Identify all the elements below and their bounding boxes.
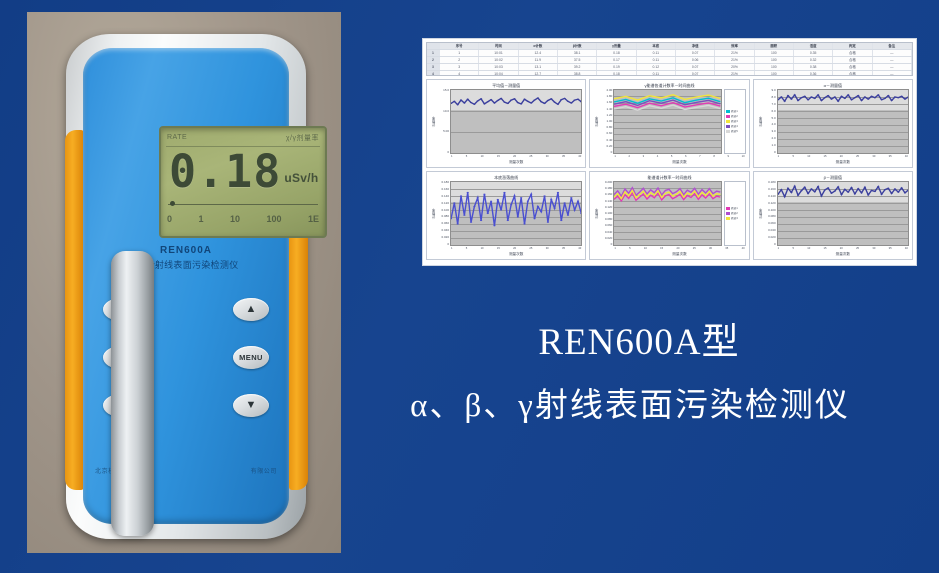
table-cell: 1 bbox=[440, 50, 479, 56]
device-handle bbox=[111, 251, 154, 536]
chart-card[interactable]: 能谱道计数率－时间曲线计数率0.2000.1800.1600.1400.1200… bbox=[589, 171, 749, 260]
chart-plot-area: 计数率0.1800.1600.1400.1200.1000.0800.0600.… bbox=[430, 181, 582, 246]
chart-y-ticks: 2.001.801.601.401.201.000.800.600.400.20… bbox=[600, 89, 613, 154]
chart-y-tick: 15.0 bbox=[437, 89, 449, 92]
chart-y-tick: 0.120 bbox=[600, 206, 612, 209]
chart-gridline bbox=[451, 153, 581, 154]
chart-y-tick: 0.180 bbox=[437, 181, 449, 184]
chart-y-tick: 0.080 bbox=[437, 215, 449, 218]
legend-label: 通道5 bbox=[731, 130, 738, 133]
table-cell: 39.2 bbox=[558, 64, 597, 70]
table-cell: 0.38 bbox=[794, 64, 833, 70]
chart-plot-area: 计数率15.010.05.000 bbox=[430, 89, 582, 154]
chart-y-tick: 6.0 bbox=[764, 110, 776, 113]
table-cell: 21% bbox=[715, 71, 754, 76]
chart-y-tick: 0.040 bbox=[437, 229, 449, 232]
chart-x-axis-label: 测量次数 bbox=[777, 251, 909, 257]
chart-y-tick: 1.40 bbox=[600, 108, 612, 111]
chart-y-tick: 0.140 bbox=[600, 200, 612, 203]
lcd-reading: 0.18 uSv/h bbox=[169, 150, 319, 194]
chart-y-tick: 9.0 bbox=[764, 89, 776, 92]
chart-y-tick: 1.80 bbox=[600, 95, 612, 98]
arrow-down-icon: ▼ bbox=[246, 400, 257, 411]
table-cell: 100 bbox=[755, 57, 794, 63]
chart-y-ticks: 0.1800.1600.1400.1200.1000.0800.0600.040… bbox=[437, 181, 450, 246]
chart-y-tick: 0.040 bbox=[764, 229, 776, 232]
table-column-header: α计数 bbox=[519, 43, 558, 49]
chart-x-axis-label: 测量次数 bbox=[450, 251, 582, 257]
legend-swatch bbox=[726, 130, 730, 133]
lcd-bargraph-marker bbox=[170, 201, 175, 206]
menu-key[interactable]: MENU bbox=[233, 346, 269, 369]
legend-label: 通道1 bbox=[731, 110, 738, 113]
table-column-header: γ剂量 bbox=[597, 43, 636, 49]
chart-y-tick: 0 bbox=[764, 151, 776, 154]
table-cell: 0.35 bbox=[794, 50, 833, 56]
table-row[interactable]: 3310:0313.139.20.190.120.0720%1000.38合格— bbox=[427, 64, 912, 71]
lcd-scale-tick: 0 bbox=[167, 214, 172, 224]
chart-y-tick: 2.0 bbox=[764, 137, 776, 140]
chart-plot bbox=[613, 89, 721, 154]
chart-x-axis-label: 测量次数 bbox=[450, 159, 582, 165]
table-cell: 10:02 bbox=[479, 57, 518, 63]
chart-plot bbox=[450, 181, 582, 246]
table-column-header: 面积 bbox=[755, 43, 794, 49]
chart-plot-area: 计数率9.08.07.06.05.04.03.02.01.00 bbox=[757, 89, 909, 154]
device-grip-left bbox=[65, 130, 84, 490]
lcd-scale-tick: 10 bbox=[230, 214, 240, 224]
chart-plot-area: 计数率0.1800.1600.1400.1200.1000.0800.0600.… bbox=[757, 181, 909, 246]
chart-y-tick: 0.040 bbox=[600, 231, 612, 234]
table-column-header: 序号 bbox=[440, 43, 479, 49]
lcd-scale-tick: 100 bbox=[266, 214, 281, 224]
page-title: REN600A型 bbox=[348, 318, 930, 368]
device-footer-right: 有限公司 bbox=[251, 466, 277, 475]
legend-swatch bbox=[726, 207, 730, 210]
table-cell: 0.32 bbox=[794, 57, 833, 63]
table-cell: 12.4 bbox=[519, 50, 558, 56]
chart-plot bbox=[450, 89, 582, 154]
table-column-header: 判定 bbox=[833, 43, 872, 49]
chart-y-ticks: 9.08.07.06.05.04.03.02.01.00 bbox=[764, 89, 777, 154]
chart-x-axis-label: 测量次数 bbox=[613, 159, 745, 165]
table-cell: 0.11 bbox=[637, 50, 676, 56]
up-key[interactable]: ▲ bbox=[233, 298, 269, 321]
chart-y-axis-label: 计数率 bbox=[430, 181, 437, 246]
chart-legend-item: 通道3 bbox=[726, 216, 744, 221]
chart-y-tick: 0.060 bbox=[600, 224, 612, 227]
chart-y-tick: 10.0 bbox=[437, 110, 449, 113]
chart-y-tick: 7.0 bbox=[764, 103, 776, 106]
chart-y-ticks: 0.2000.1800.1600.1400.1200.1000.0800.060… bbox=[600, 181, 613, 246]
chart-y-tick: 4.0 bbox=[764, 123, 776, 126]
table-cell: 38.1 bbox=[558, 50, 597, 56]
chart-y-tick: 2.00 bbox=[600, 89, 612, 92]
chart-card[interactable]: α－测量值计数率9.08.07.06.05.04.03.02.01.001510… bbox=[753, 79, 913, 168]
table-cell: 0.11 bbox=[637, 71, 676, 76]
table-row-header: 2 bbox=[427, 57, 440, 63]
software-report-panel: 序号时间α计数β计数γ剂量本底净值效率面积活度判定备注1110:0112.438… bbox=[422, 38, 917, 266]
table-cell: 38.8 bbox=[558, 71, 597, 76]
table-column-header: 时间 bbox=[479, 43, 518, 49]
chart-gridline bbox=[614, 153, 720, 154]
chart-x-axis-label: 测量次数 bbox=[777, 159, 909, 165]
chart-y-tick: 3.0 bbox=[764, 130, 776, 133]
table-cell: 0.07 bbox=[676, 50, 715, 56]
table-cell: 0.06 bbox=[676, 57, 715, 63]
table-cell: 37.5 bbox=[558, 57, 597, 63]
chart-y-ticks: 15.010.05.000 bbox=[437, 89, 450, 154]
table-cell: 100 bbox=[755, 64, 794, 70]
chart-plot bbox=[613, 181, 721, 246]
chart-y-tick: 0 bbox=[437, 243, 449, 246]
lcd-status-right: χ/γ剂量率 bbox=[286, 133, 319, 143]
table-column-header: 净值 bbox=[676, 43, 715, 49]
chart-y-tick: 0 bbox=[600, 151, 612, 154]
chart-card[interactable]: 本底涨落曲线计数率0.1800.1600.1400.1200.1000.0800… bbox=[426, 171, 586, 260]
slide-root: RATE χ/γ剂量率 0.18 uSv/h 0 1 10 100 1E bbox=[0, 0, 939, 573]
table-cell: 4 bbox=[440, 71, 479, 76]
table-cell: 10:04 bbox=[479, 71, 518, 76]
table-header-row: 序号时间α计数β计数γ剂量本底净值效率面积活度判定备注 bbox=[427, 43, 912, 50]
table-row-header: 3 bbox=[427, 64, 440, 70]
chart-legend: 通道1通道2通道3通道4通道5 bbox=[724, 89, 746, 154]
table-column-header: 备注 bbox=[873, 43, 912, 49]
table-cell: 合格 bbox=[833, 64, 872, 70]
chart-plot-area: 计数率2.001.801.601.401.201.000.800.600.400… bbox=[593, 89, 745, 154]
chart-y-tick: 0.180 bbox=[600, 187, 612, 190]
table-corner-cell bbox=[427, 43, 440, 49]
legend-label: 通道3 bbox=[731, 120, 738, 123]
chart-y-tick: 1.60 bbox=[600, 101, 612, 104]
chart-plot bbox=[777, 89, 909, 154]
table-cell: 20% bbox=[715, 64, 754, 70]
table-cell: 13.1 bbox=[519, 64, 558, 70]
table-cell: 21% bbox=[715, 50, 754, 56]
chart-y-axis-label: 计数率 bbox=[430, 89, 437, 154]
menu-key-label: MENU bbox=[239, 353, 263, 362]
chart-y-tick: 5.0 bbox=[764, 117, 776, 120]
table-column-header: 活度 bbox=[794, 43, 833, 49]
table-column-header: β计数 bbox=[558, 43, 597, 49]
chart-plot-area: 计数率0.2000.1800.1600.1400.1200.1000.0800.… bbox=[593, 181, 745, 246]
chart-card[interactable]: β－测量值计数率0.1800.1600.1400.1200.1000.0800.… bbox=[753, 171, 913, 260]
chart-y-tick: 0.020 bbox=[600, 237, 612, 240]
table-cell: 合格 bbox=[833, 57, 872, 63]
data-table: 序号时间α计数β计数γ剂量本底净值效率面积活度判定备注1110:0112.438… bbox=[426, 42, 913, 76]
chart-y-tick: 0.160 bbox=[764, 188, 776, 191]
chart-x-axis-label: 测量次数 bbox=[613, 251, 745, 257]
chart-y-tick: 1.20 bbox=[600, 114, 612, 117]
legend-label: 通道2 bbox=[731, 115, 738, 118]
chart-y-axis-label: 计数率 bbox=[757, 181, 764, 246]
table-column-header: 本底 bbox=[637, 43, 676, 49]
chart-legend-item: 通道5 bbox=[726, 129, 744, 134]
table-cell: 0.18 bbox=[597, 71, 636, 76]
legend-swatch bbox=[726, 125, 730, 128]
chart-plot bbox=[777, 181, 909, 246]
chart-gridline bbox=[451, 245, 581, 246]
table-cell: 0.11 bbox=[637, 57, 676, 63]
table-row[interactable]: 4410:0412.738.80.180.110.0721%1000.36合格— bbox=[427, 71, 912, 76]
lcd-status-left: RATE bbox=[167, 134, 187, 141]
chart-y-tick: 0.140 bbox=[437, 195, 449, 198]
legend-swatch bbox=[726, 110, 730, 113]
table-cell: 21% bbox=[715, 57, 754, 63]
chart-y-tick: 0.160 bbox=[600, 193, 612, 196]
table-cell: 0.18 bbox=[597, 50, 636, 56]
chart-card[interactable]: 平均值－测量值计数率15.010.05.0001510152025303540测… bbox=[426, 79, 586, 168]
legend-swatch bbox=[726, 212, 730, 215]
legend-label: 通道2 bbox=[731, 212, 738, 215]
lcd-scale-tick: 1E bbox=[308, 214, 319, 224]
chart-legend: 通道1通道2通道3 bbox=[724, 181, 746, 246]
legend-label: 通道1 bbox=[731, 207, 738, 210]
chart-y-tick: 1.00 bbox=[600, 120, 612, 123]
chart-y-tick: 0.020 bbox=[764, 236, 776, 239]
table-row[interactable]: 1110:0112.438.10.180.110.0721%1000.35合格— bbox=[427, 50, 912, 57]
arrow-up-icon: ▲ bbox=[246, 304, 257, 315]
table-row[interactable]: 2210:0211.937.50.170.110.0621%1000.32合格— bbox=[427, 57, 912, 64]
table-cell: 2 bbox=[440, 57, 479, 63]
lcd-scale: 0 1 10 100 1E bbox=[167, 214, 319, 224]
chart-y-tick: 0.180 bbox=[764, 181, 776, 184]
legend-swatch bbox=[726, 115, 730, 118]
lcd-status-bar: RATE χ/γ剂量率 bbox=[167, 131, 319, 144]
chart-y-tick: 0.120 bbox=[764, 202, 776, 205]
chart-y-tick: 8.0 bbox=[764, 96, 776, 99]
chart-y-tick: 0.120 bbox=[437, 202, 449, 205]
table-cell: 0.36 bbox=[794, 71, 833, 76]
table-cell: — bbox=[873, 64, 912, 70]
chart-gridline bbox=[778, 153, 908, 154]
table-cell: 合格 bbox=[833, 50, 872, 56]
table-cell: 11.9 bbox=[519, 57, 558, 63]
chart-y-axis-label: 计数率 bbox=[593, 89, 600, 154]
chart-y-tick: 0.100 bbox=[600, 212, 612, 215]
table-row-header: 1 bbox=[427, 50, 440, 56]
table-column-header: 效率 bbox=[715, 43, 754, 49]
table-cell: 12.7 bbox=[519, 71, 558, 76]
page-subtitle: α、β、γ射线表面污染检测仪 bbox=[330, 382, 930, 430]
lcd-bargraph bbox=[168, 204, 318, 208]
title-block: REN600A型 α、β、γ射线表面污染检测仪 bbox=[330, 318, 930, 488]
chart-gridline bbox=[614, 245, 720, 246]
lcd-unit: uSv/h bbox=[284, 171, 318, 185]
chart-y-axis-label: 计数率 bbox=[757, 89, 764, 154]
chart-y-tick: 5.00 bbox=[437, 130, 449, 133]
table-cell: — bbox=[873, 50, 912, 56]
table-cell: 0.19 bbox=[597, 64, 636, 70]
product-photo: RATE χ/γ剂量率 0.18 uSv/h 0 1 10 100 1E bbox=[27, 12, 341, 553]
table-cell: 0.07 bbox=[676, 64, 715, 70]
table-cell: — bbox=[873, 57, 912, 63]
lcd-scale-tick: 1 bbox=[198, 214, 203, 224]
chart-y-tick: 1.0 bbox=[764, 144, 776, 147]
charts-grid: 平均值－测量值计数率15.010.05.0001510152025303540测… bbox=[426, 79, 913, 260]
chart-y-tick: 0.40 bbox=[600, 139, 612, 142]
chart-y-tick: 0 bbox=[764, 243, 776, 246]
chart-y-ticks: 0.1800.1600.1400.1200.1000.0800.0600.040… bbox=[764, 181, 777, 246]
chart-y-tick: 0.060 bbox=[764, 222, 776, 225]
chart-y-tick: 0.060 bbox=[437, 222, 449, 225]
chart-y-tick: 0.20 bbox=[600, 145, 612, 148]
chart-y-tick: 0.080 bbox=[764, 215, 776, 218]
table-cell: 3 bbox=[440, 64, 479, 70]
table-cell: 100 bbox=[755, 50, 794, 56]
chart-y-tick: 0.160 bbox=[437, 188, 449, 191]
chart-card[interactable]: γ能谱各道计数率－时间曲线计数率2.001.801.601.401.201.00… bbox=[589, 79, 749, 168]
table-row-header: 4 bbox=[427, 71, 440, 76]
chart-y-tick: 0 bbox=[600, 243, 612, 246]
chart-y-tick: 0.080 bbox=[600, 218, 612, 221]
lcd-screen: RATE χ/γ剂量率 0.18 uSv/h 0 1 10 100 1E bbox=[159, 126, 327, 238]
chart-y-tick: 0.60 bbox=[600, 132, 612, 135]
legend-swatch bbox=[726, 120, 730, 123]
table-cell: 0.07 bbox=[676, 71, 715, 76]
lcd-value: 0.18 bbox=[169, 150, 281, 194]
chart-y-tick: 0.100 bbox=[764, 209, 776, 212]
legend-swatch bbox=[726, 217, 730, 220]
chart-y-tick: 0.100 bbox=[437, 209, 449, 212]
down-key[interactable]: ▼ bbox=[233, 394, 269, 417]
chart-gridline bbox=[778, 245, 908, 246]
chart-y-tick: 0.020 bbox=[437, 236, 449, 239]
chart-y-tick: 0 bbox=[437, 151, 449, 154]
legend-label: 通道3 bbox=[731, 217, 738, 220]
chart-y-tick: 0.200 bbox=[600, 181, 612, 184]
table-cell: 0.17 bbox=[597, 57, 636, 63]
table-cell: — bbox=[873, 71, 912, 76]
table-cell: 0.12 bbox=[637, 64, 676, 70]
table-cell: 10:01 bbox=[479, 50, 518, 56]
chart-y-tick: 0.140 bbox=[764, 195, 776, 198]
table-cell: 10:03 bbox=[479, 64, 518, 70]
table-cell: 合格 bbox=[833, 71, 872, 76]
chart-y-axis-label: 计数率 bbox=[593, 181, 600, 246]
legend-label: 通道4 bbox=[731, 125, 738, 128]
chart-y-tick: 0.80 bbox=[600, 126, 612, 129]
table-cell: 100 bbox=[755, 71, 794, 76]
